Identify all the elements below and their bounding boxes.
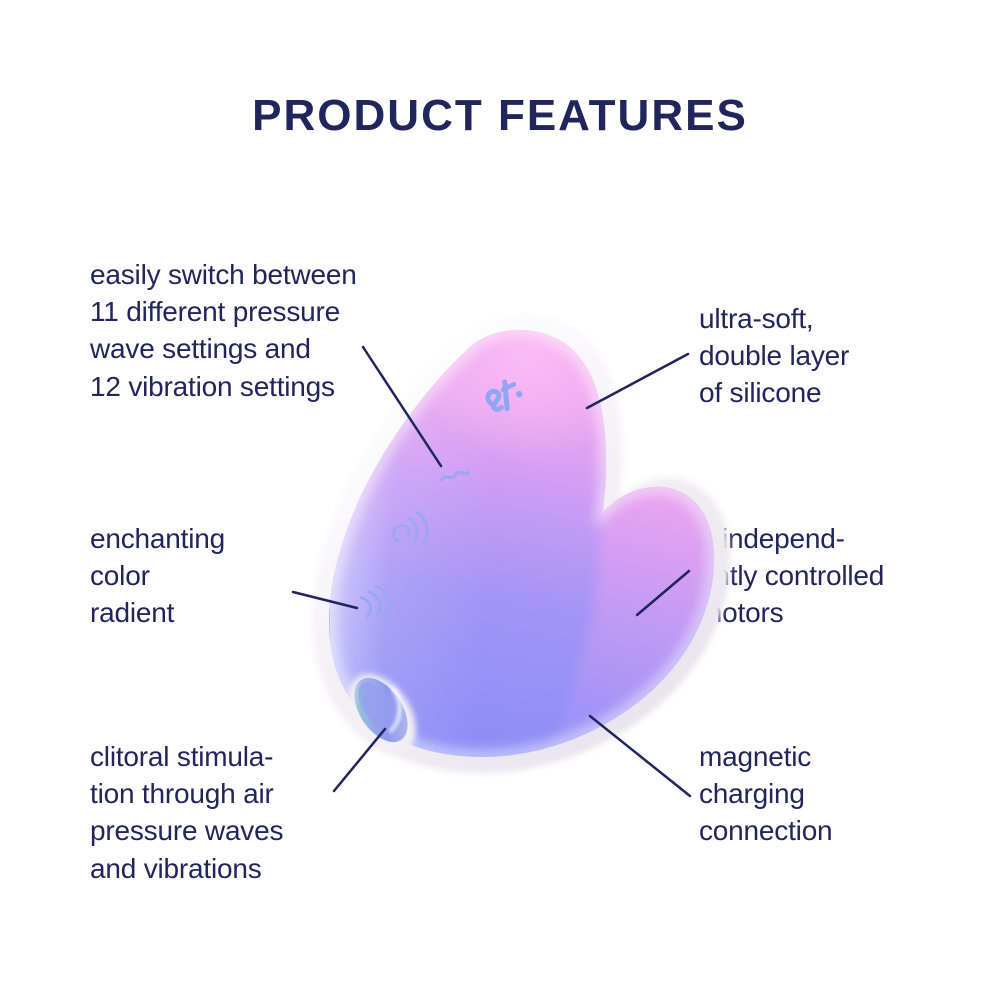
- leader-clitoral: [334, 729, 385, 791]
- leader-magnetic: [590, 716, 690, 796]
- product-features-page: PRODUCT FEATURES: [0, 0, 1000, 1000]
- leader-settings: [363, 347, 441, 466]
- leader-gradient: [293, 592, 357, 608]
- leader-silicone: [587, 354, 688, 408]
- leader-motors: [637, 571, 689, 615]
- leader-lines: [0, 0, 1000, 1000]
